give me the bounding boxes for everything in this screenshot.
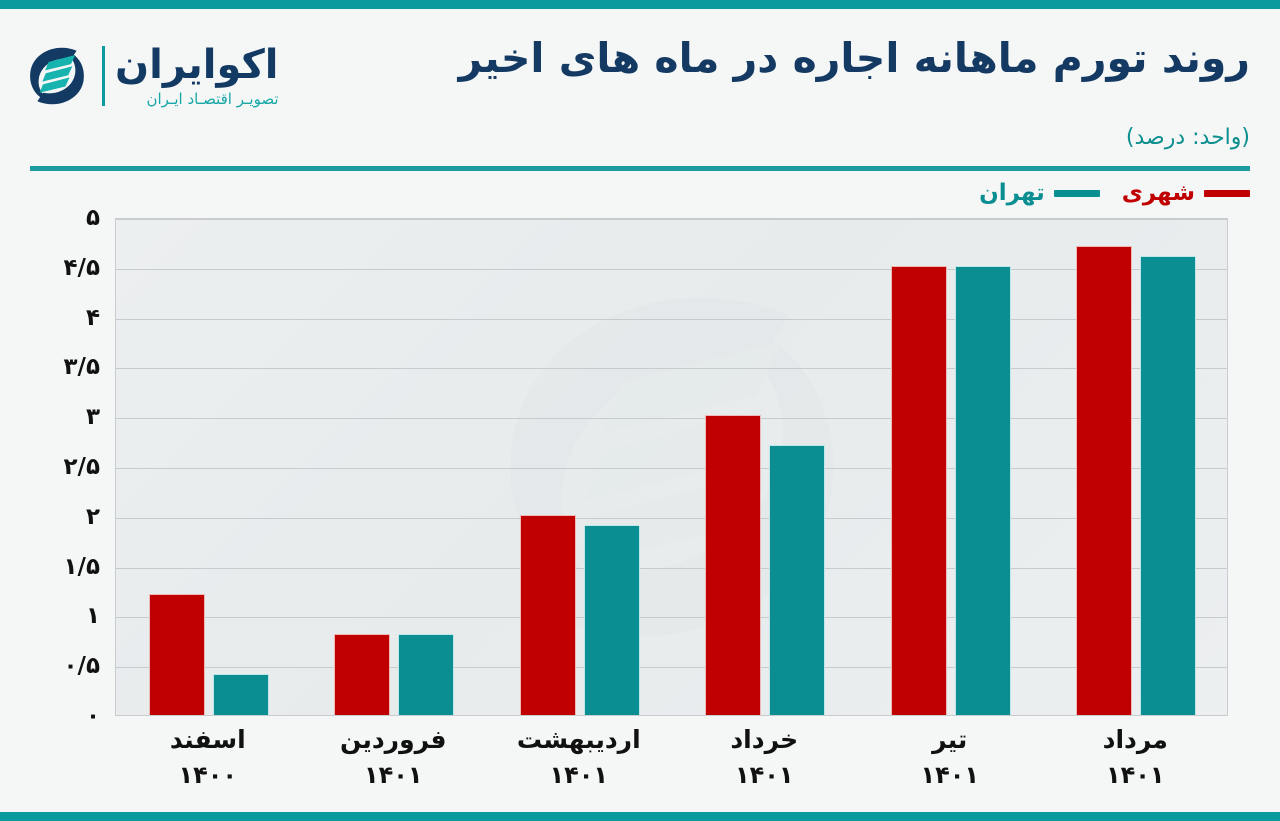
x-axis-label: مرداد۱۴۰۱ — [1103, 722, 1168, 792]
bar-urban[interactable] — [149, 594, 205, 715]
x-axis-label-year: ۱۴۰۰ — [170, 758, 246, 792]
bar-urban[interactable] — [891, 266, 947, 715]
bar-group — [116, 219, 302, 715]
brand-tagline: تصویـر اقتصـاد ایـران — [146, 92, 278, 107]
y-axis-tick: ۴/۵ — [64, 255, 100, 281]
bar-urban[interactable] — [334, 634, 390, 715]
logo-divider — [102, 46, 105, 106]
page-title: روند تورم ماهانه اجاره در ماه های اخیر — [400, 33, 1250, 83]
brand-name: اکوایران — [115, 45, 279, 85]
legend-item-tehran[interactable]: تهران — [979, 180, 1100, 206]
x-axis-label-month: اسفند — [170, 725, 246, 754]
y-axis-tick: ۲/۵ — [64, 454, 100, 480]
bar-tehran[interactable] — [584, 525, 640, 715]
bar-tehran[interactable] — [955, 266, 1011, 715]
bar-group — [487, 219, 673, 715]
bar-tehran[interactable] — [398, 634, 454, 715]
y-axis-tick: ۰/۵ — [64, 653, 100, 679]
y-axis-tick: ۳ — [86, 404, 100, 430]
legend-label-urban: شهری — [1122, 180, 1195, 206]
brand-logo: اکوایران تصویـر اقتصـاد ایـران — [22, 41, 279, 111]
x-axis-label: تیر۱۴۰۱ — [920, 722, 979, 792]
bar-tehran[interactable] — [1140, 256, 1196, 715]
y-axis-tick: ۵ — [86, 205, 100, 231]
chart-plot-area — [115, 218, 1228, 716]
x-axis: اسفند۱۴۰۰فروردین۱۴۰۱اردیبهشت۱۴۰۱خرداد۱۴۰… — [115, 722, 1228, 802]
page-header: اکوایران تصویـر اقتصـاد ایـران روند تورم… — [0, 9, 1280, 159]
x-axis-label-month: فروردین — [340, 725, 447, 754]
y-axis-tick: ۲ — [86, 504, 100, 530]
x-axis-label-year: ۱۴۰۱ — [340, 758, 447, 792]
bar-tehran[interactable] — [213, 674, 269, 715]
x-axis-label: خرداد۱۴۰۱ — [730, 722, 798, 792]
x-axis-label-month: تیر — [932, 725, 967, 754]
bar-urban[interactable] — [1076, 246, 1132, 715]
chart-bars — [116, 219, 1227, 715]
x-axis-label: اردیبهشت۱۴۰۱ — [517, 722, 641, 792]
bar-group — [858, 219, 1044, 715]
bar-group — [1044, 219, 1229, 715]
bar-group — [673, 219, 859, 715]
bar-group — [302, 219, 488, 715]
x-axis-label-year: ۱۴۰۱ — [517, 758, 641, 792]
chart-legend: شهریتهران — [979, 180, 1250, 206]
y-axis-tick: ۱ — [86, 603, 100, 629]
y-axis: ۰۰/۵۱۱/۵۲۲/۵۳۳/۵۴۴/۵۵ — [0, 218, 112, 716]
bar-urban[interactable] — [705, 415, 761, 715]
x-axis-label-year: ۱۴۰۱ — [920, 758, 979, 792]
legend-swatch-urban — [1204, 190, 1250, 197]
x-axis-label: فروردین۱۴۰۱ — [340, 722, 447, 792]
legend-swatch-tehran — [1054, 190, 1100, 197]
ecoiran-swoosh-icon — [22, 41, 92, 111]
x-axis-label-month: اردیبهشت — [517, 725, 641, 754]
y-axis-tick: ۴ — [86, 305, 100, 331]
x-axis-label-month: مرداد — [1103, 725, 1168, 754]
x-axis-label-year: ۱۴۰۱ — [1103, 758, 1168, 792]
legend-label-tehran: تهران — [979, 180, 1045, 206]
top-accent-bar — [0, 0, 1280, 9]
bar-tehran[interactable] — [769, 445, 825, 715]
header-divider — [30, 166, 1250, 171]
bottom-accent-bar — [0, 812, 1280, 821]
y-axis-tick: ۱/۵ — [64, 554, 100, 580]
legend-item-urban[interactable]: شهری — [1122, 180, 1250, 206]
unit-subtitle: (واحد: درصد) — [1126, 125, 1250, 150]
bar-urban[interactable] — [520, 515, 576, 715]
y-axis-tick: ۳/۵ — [64, 354, 100, 380]
x-axis-label-year: ۱۴۰۱ — [730, 758, 798, 792]
y-axis-tick: ۰ — [86, 703, 100, 729]
x-axis-label-month: خرداد — [730, 725, 798, 754]
x-axis-label: اسفند۱۴۰۰ — [170, 722, 246, 792]
brand-wordmark: اکوایران تصویـر اقتصـاد ایـران — [115, 45, 279, 107]
